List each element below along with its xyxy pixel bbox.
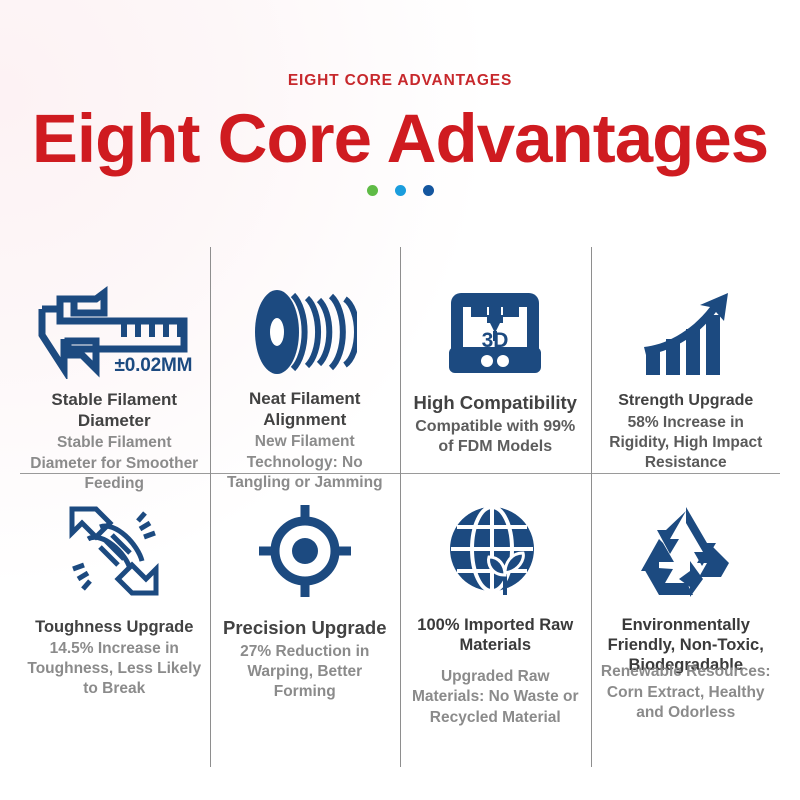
feature-title: 100% Imported Raw Materials xyxy=(406,615,585,655)
feature-description: Compatible with 99% of FDM Models xyxy=(406,417,585,459)
feature-cell-imported-raw-materials: 100% Imported Raw Materials Upgraded Raw… xyxy=(400,473,591,767)
feature-description: 58% Increase in Rigidity, High Impact Re… xyxy=(597,413,776,473)
feature-cell-environmentally-friendly: Environmentally Friendly, Non-Toxic, Bio… xyxy=(591,473,782,767)
feature-cell-toughness-upgrade: Toughness Upgrade 14.5% Increase in Toug… xyxy=(19,473,210,767)
globe-sprout-icon xyxy=(447,499,543,603)
feature-title: Neat Filament Alignment xyxy=(216,389,395,430)
feature-description: 14.5% Increase in Toughness, Less Likely… xyxy=(25,639,204,699)
infographic-page: EIGHT CORE ADVANTAGES Eight Core Advanta… xyxy=(0,0,800,800)
caliper-icon: ±0.02MM xyxy=(34,283,194,379)
feature-title: Toughness Upgrade xyxy=(35,617,193,637)
feature-cell-precision-upgrade: Precision Upgrade 27% Reduction in Warpi… xyxy=(210,473,401,767)
feature-title: Stable Filament Diameter xyxy=(25,390,204,431)
page-title: Eight Core Advantages xyxy=(0,103,800,175)
features-grid: ±0.02MM Stable Filament Diameter Stable … xyxy=(19,247,781,767)
light-blue-dot xyxy=(395,185,406,196)
feature-cell-stable-filament-diameter: ±0.02MM Stable Filament Diameter Stable … xyxy=(19,247,210,473)
feature-title: Strength Upgrade xyxy=(618,391,753,411)
recycle-icon xyxy=(637,499,735,603)
dark-blue-dot xyxy=(423,185,434,196)
feature-description: 27% Reduction in Warping, Better Forming xyxy=(216,642,395,702)
caliper-tolerance-label: ±0.02MM xyxy=(115,355,193,377)
feature-cell-strength-upgrade: Strength Upgrade 58% Increase in Rigidit… xyxy=(591,247,782,473)
feature-title: Precision Upgrade xyxy=(223,617,386,640)
filament-spool-icon xyxy=(253,287,357,377)
feature-description: Renewable Resources: Corn Extract, Healt… xyxy=(597,662,776,722)
feature-description: Upgraded Raw Materials: No Waste or Recy… xyxy=(406,667,585,727)
feature-cell-high-compatibility: 3D High Compatibility Compatible with 99… xyxy=(400,247,591,473)
dot-separator xyxy=(0,185,800,196)
green-dot xyxy=(367,185,378,196)
stretch-arrows-icon xyxy=(66,499,162,603)
target-crosshair-icon xyxy=(257,499,353,603)
feature-cell-neat-filament-alignment: Neat Filament Alignment New Filament Tec… xyxy=(210,247,401,473)
eyebrow-label: EIGHT CORE ADVANTAGES xyxy=(0,72,800,91)
header: EIGHT CORE ADVANTAGES Eight Core Advanta… xyxy=(0,72,800,196)
growth-chart-icon xyxy=(638,285,734,380)
feature-title: High Compatibility xyxy=(414,392,577,415)
3d-printer-icon: 3D xyxy=(447,279,543,383)
